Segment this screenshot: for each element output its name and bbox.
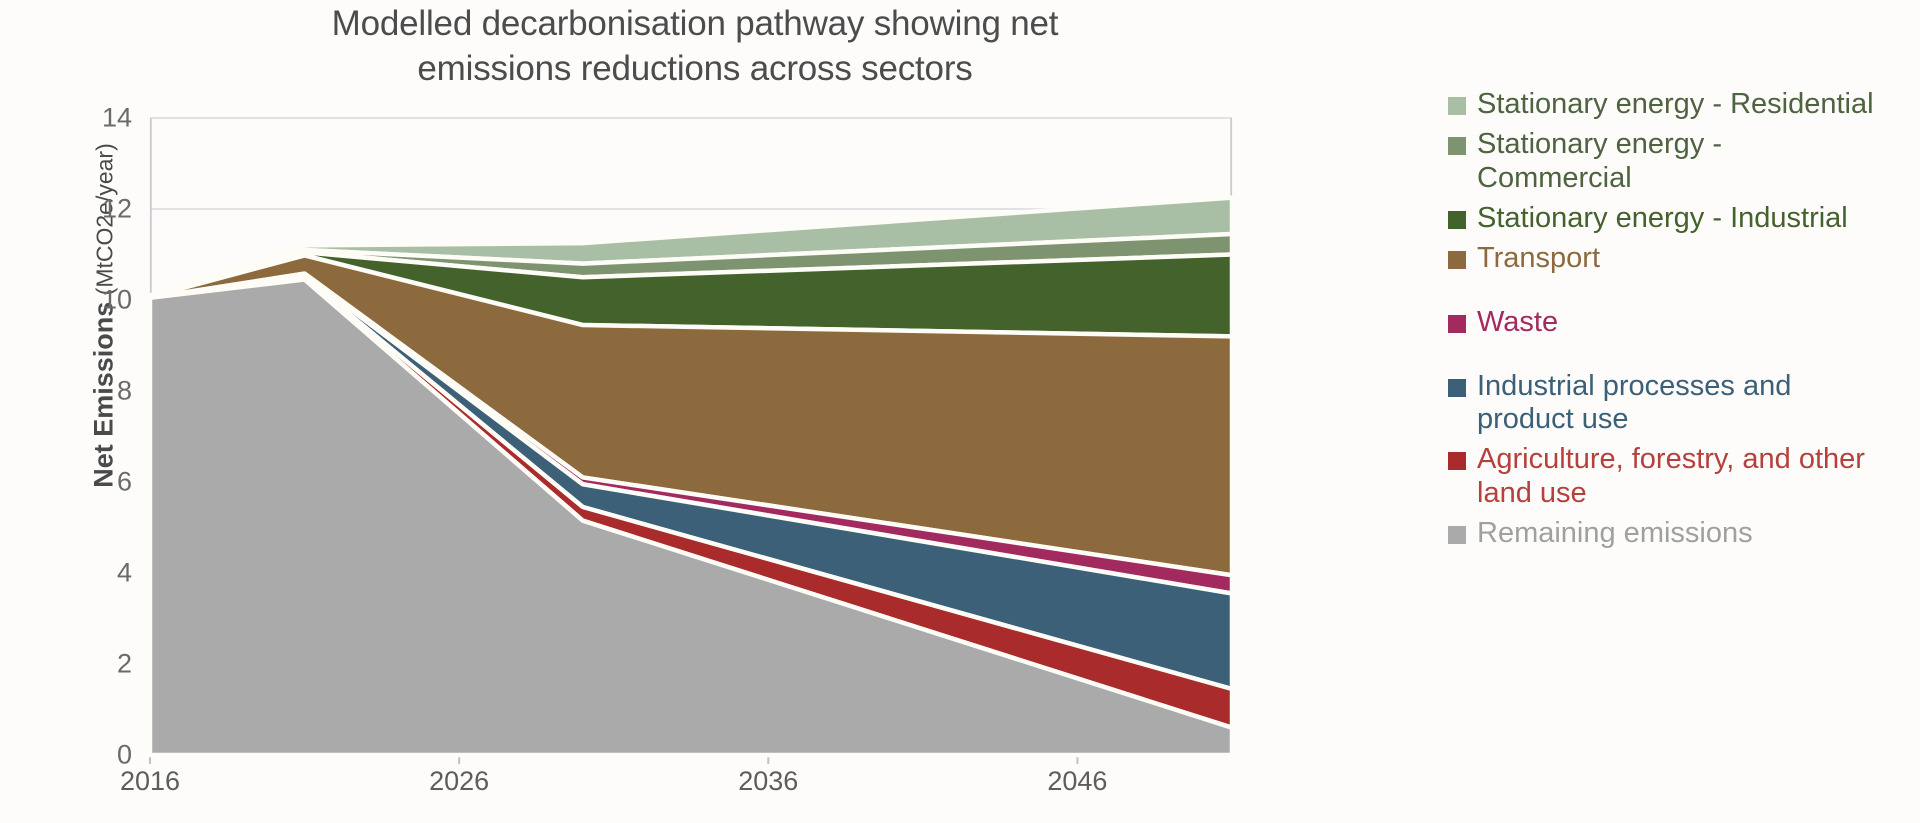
legend-item-waste[interactable]: Waste [1448,306,1908,340]
legend-item-transport[interactable]: Transport [1448,242,1908,276]
legend-item-label: Stationary energy - Residential [1477,88,1874,122]
legend-swatch-icon [1448,452,1466,470]
y-axis-tick-12: 12 [72,194,132,225]
chart-legend: Stationary energy - ResidentialStationar… [1448,88,1908,557]
legend-item-label: Stationary energy - Commercial [1477,128,1877,196]
legend-swatch-icon [1448,137,1466,155]
legend-swatch-icon [1448,526,1466,544]
y-axis-tick-2: 2 [72,649,132,680]
y-axis-tick-8: 8 [72,376,132,407]
y-axis-tick-10: 10 [72,285,132,316]
y-axis-tick-4: 4 [72,558,132,589]
x-axis-tick-2036: 2036 [708,766,828,797]
legend-item-label: Remaining emissions [1477,517,1753,551]
x-axis-tick-2026: 2026 [399,766,519,797]
area-series-group [150,198,1232,755]
legend-item-label: Stationary energy - Industrial [1477,202,1848,236]
legend-item-label: Industrial processes and product use [1477,370,1877,438]
chart-title-line-2: emissions reductions across sectors [150,47,1240,92]
y-axis-tick-14: 14 [72,103,132,134]
legend-swatch-icon [1448,211,1466,229]
x-axis-tick-2016: 2016 [90,766,210,797]
legend-item-agriculture-forestry-and-other-land-use[interactable]: Agriculture, forestry, and other land us… [1448,443,1908,511]
page-title: Modelled decarbonisation pathway showing… [150,2,1240,92]
legend-swatch-icon [1448,315,1466,333]
x-axis-tick-2046: 2046 [1017,766,1137,797]
legend-swatch-icon [1448,251,1466,269]
chart-plot-area [150,118,1232,755]
legend-swatch-icon [1448,97,1466,115]
y-axis-title: Net Emissions (MtCO2e/year) [89,106,120,526]
stacked-area-chart [150,118,1232,755]
y-axis-tick-6: 6 [72,467,132,498]
legend-item-industrial-processes-and-product-use[interactable]: Industrial processes and product use [1448,370,1908,438]
legend-item-label: Agriculture, forestry, and other land us… [1477,443,1877,511]
legend-swatch-icon [1448,379,1466,397]
legend-item-label: Transport [1477,242,1600,276]
legend-item-remaining-emissions[interactable]: Remaining emissions [1448,517,1908,551]
legend-item-stationary-energy-industrial[interactable]: Stationary energy - Industrial [1448,202,1908,236]
legend-item-stationary-energy-residential[interactable]: Stationary energy - Residential [1448,88,1908,122]
legend-item-label: Waste [1477,306,1558,340]
legend-item-stationary-energy-commercial[interactable]: Stationary energy - Commercial [1448,128,1908,196]
chart-title-line-1: Modelled decarbonisation pathway showing… [150,2,1240,47]
